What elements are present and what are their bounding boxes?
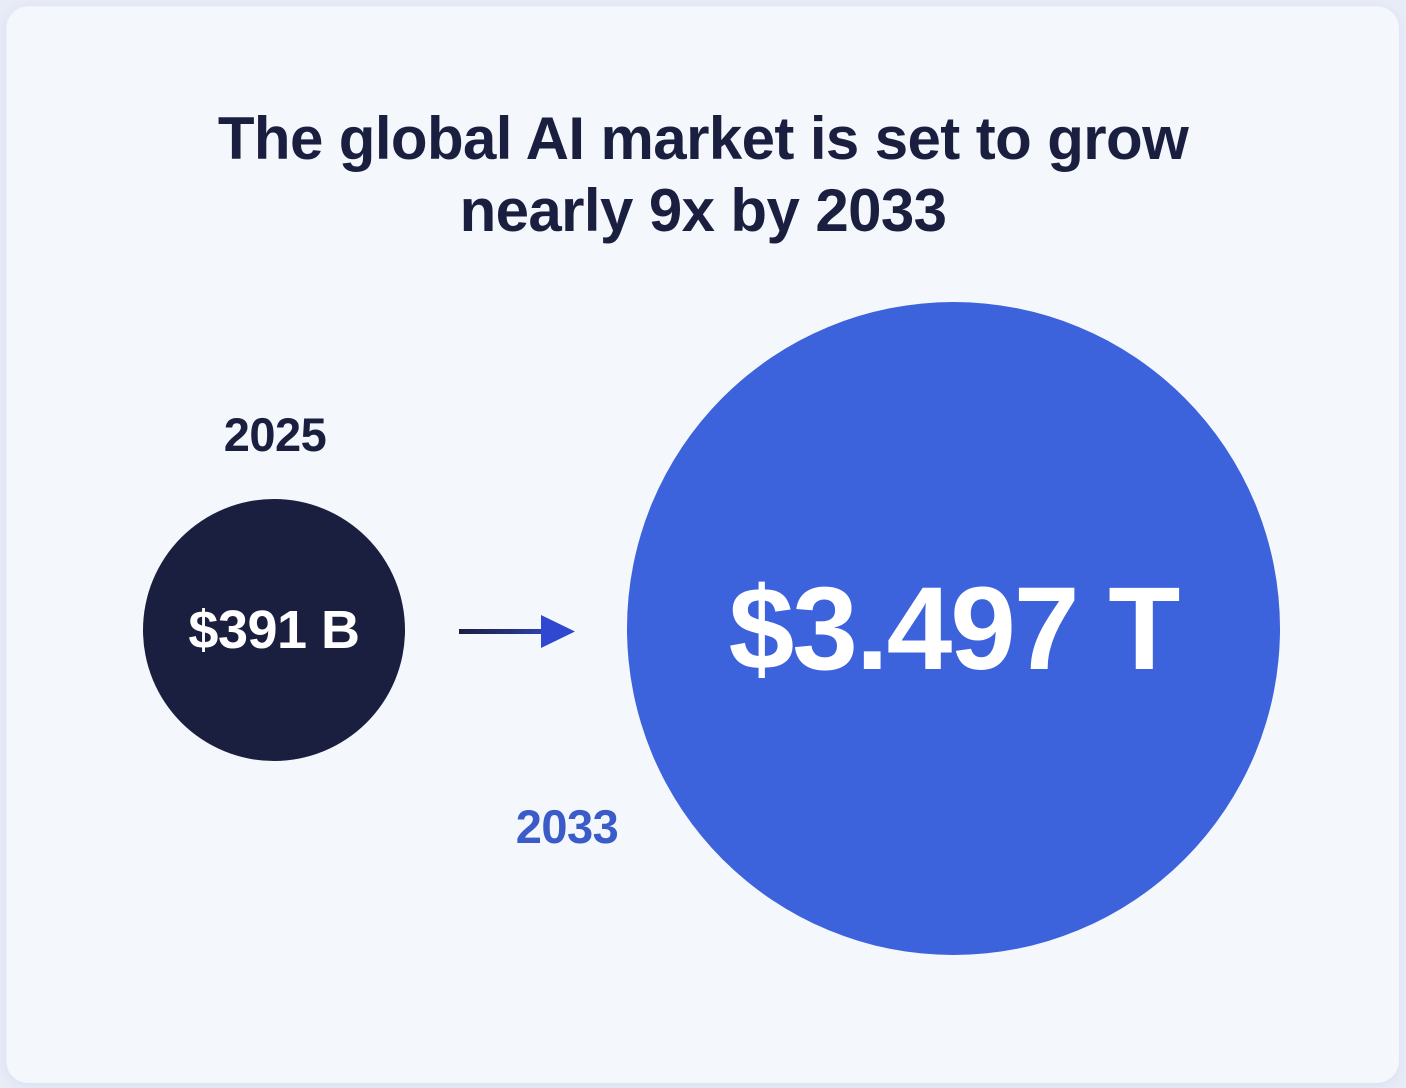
bubble-2025: $391 B [143,499,405,761]
bubble-value-2025: $391 B [188,603,359,657]
bubble-2033: $3.497 T [627,302,1280,955]
page-title-line-2: nearly 9x by 2033 [7,175,1399,247]
page-title: The global AI market is set to grow near… [7,103,1399,247]
infographic-card: The global AI market is set to grow near… [6,6,1399,1083]
arrow-right-svg [451,603,583,661]
bubble-value-2033: $3.497 T [729,570,1179,688]
page-title-line-1: The global AI market is set to grow [7,103,1399,175]
arrow-right-icon [451,603,583,661]
infographic-canvas: The global AI market is set to grow near… [0,0,1406,1088]
year-label-2033: 2033 [465,803,669,850]
year-label-2025: 2025 [173,411,377,458]
